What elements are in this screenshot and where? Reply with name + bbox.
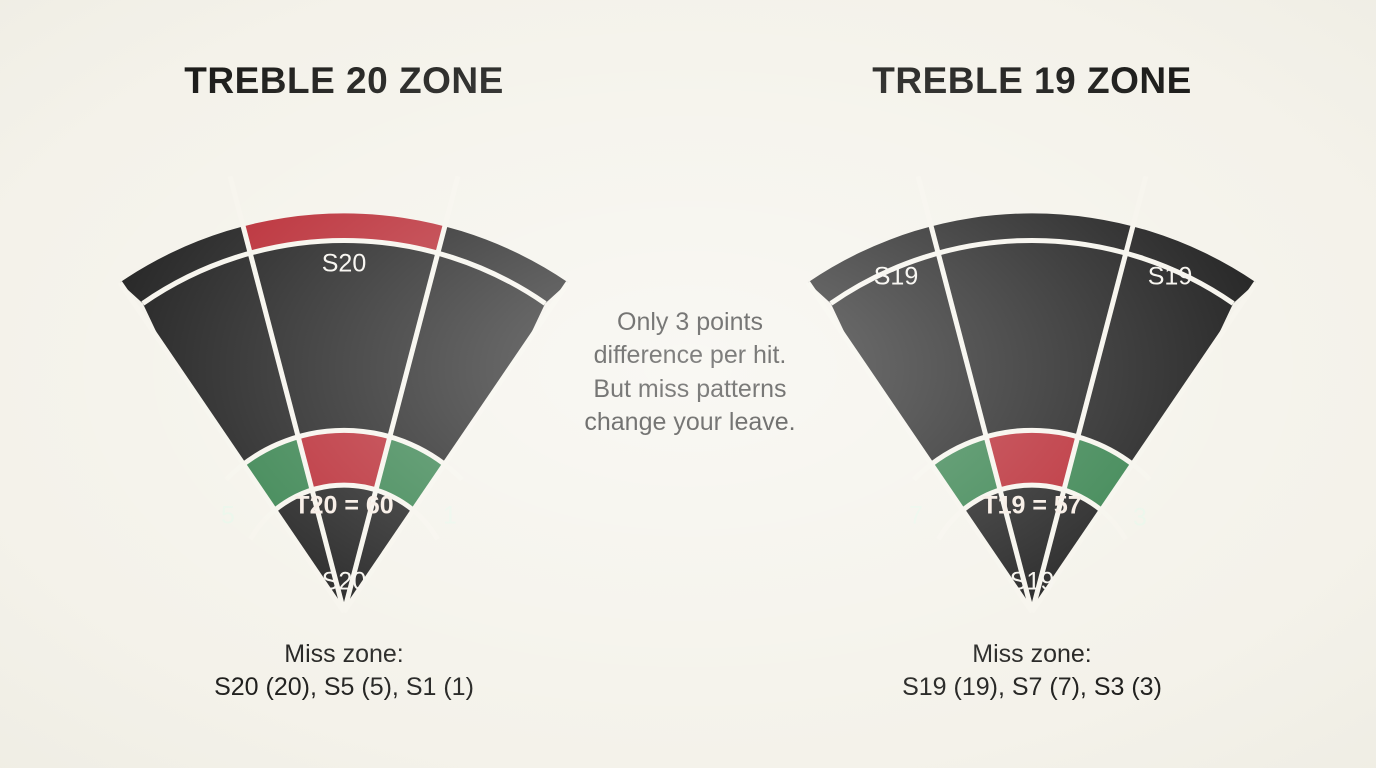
caption-left: Miss zone: S20 (20), S5 (5), S1 (1) — [0, 638, 688, 704]
zone-title-left: TREBLE 20 ZONE — [0, 62, 688, 99]
center-note: Only 3 points difference per hit. But mi… — [540, 306, 840, 439]
label-outer-single-right-right-panel: S19 — [1148, 263, 1192, 291]
label-treble-center-left-panel: T20 = 60 — [294, 492, 393, 520]
diagram-canvas: TREBLE 20 ZONE — [0, 0, 1376, 768]
label-treble-ring-right-left-panel: 1 — [443, 502, 457, 530]
label-treble-ring-left-right-panel: 7 — [909, 502, 923, 530]
caption-right-line2: S19 (19), S7 (7), S3 (3) — [688, 671, 1376, 704]
center-note-line-3: But miss patterns — [540, 373, 840, 406]
label-treble-center-right-panel: T19 = 57 — [982, 492, 1081, 520]
center-note-line-1: Only 3 points — [540, 306, 840, 339]
label-treble-ring-left-left-panel: 5 — [221, 502, 235, 530]
caption-left-line1: Miss zone: — [0, 638, 688, 671]
caption-right-line1: Miss zone: — [688, 638, 1376, 671]
center-note-line-4: change your leave. — [540, 406, 840, 439]
label-outer-single-center-left-panel: S20 — [322, 250, 366, 278]
zone-title-right: TREBLE 19 ZONE — [688, 62, 1376, 99]
label-treble-ring-right-right-panel: 3 — [1133, 504, 1147, 532]
label-inner-single-center-right-panel: S19 — [1010, 568, 1054, 596]
label-inner-single-center-left-panel: S20 — [322, 568, 366, 596]
caption-left-line2: S20 (20), S5 (5), S1 (1) — [0, 671, 688, 704]
label-outer-single-left-right-panel: S19 — [874, 263, 918, 291]
center-note-line-2: difference per hit. — [540, 339, 840, 372]
caption-right: Miss zone: S19 (19), S7 (7), S3 (3) — [688, 638, 1376, 704]
